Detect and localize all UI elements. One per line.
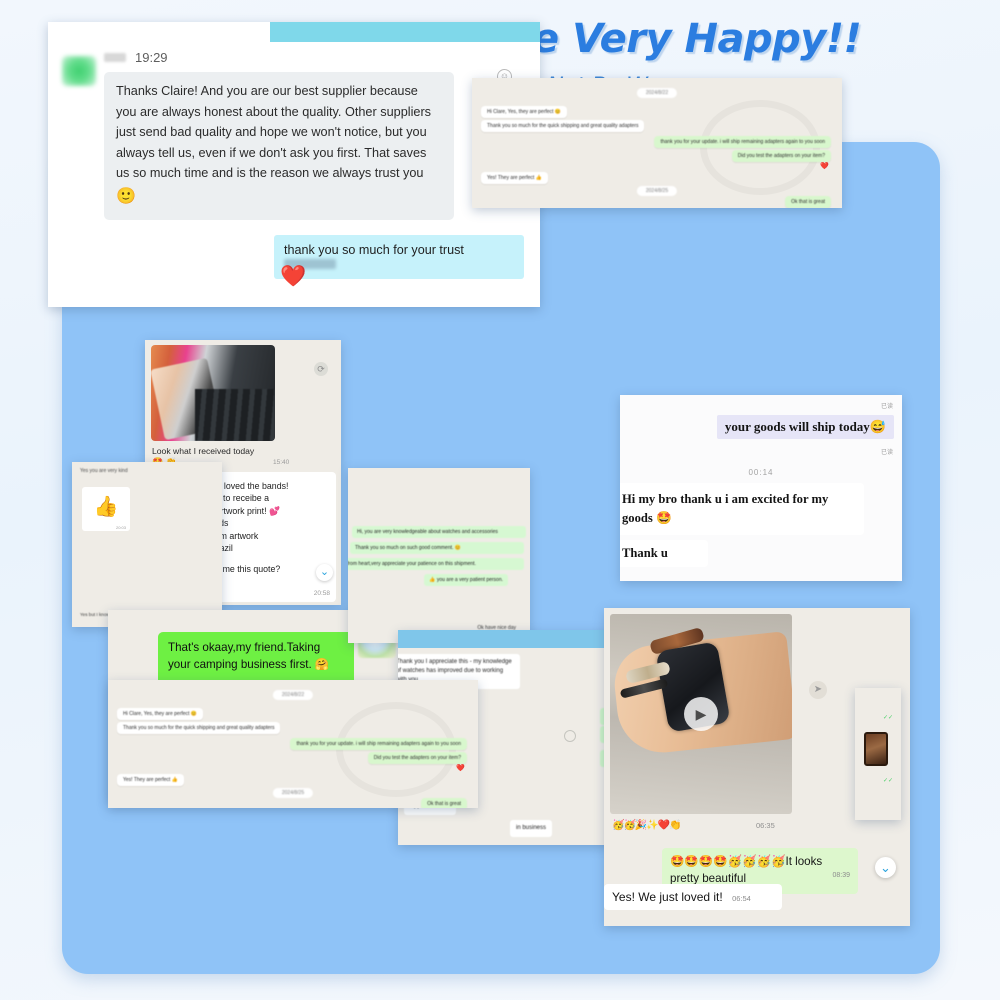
wrist-watch-video-thumbnail[interactable]: ▶ <box>610 614 792 814</box>
sender-name-redacted <box>104 53 126 62</box>
beautiful-message-text: 🤩🤩🤩🤩🥳🥳🥳🥳It looks pretty beautiful <box>670 855 822 885</box>
screenshot-comment-chat[interactable]: Hi, you are very knowledgeable about wat… <box>348 468 530 643</box>
date-divider-2: 2024/8/25 <box>273 788 313 798</box>
message-in-2: Thank you so much for the quick shipping… <box>481 120 644 132</box>
read-tick-bottom: ✓✓ <box>883 777 893 784</box>
watches-message-4: in business <box>510 820 552 837</box>
screenshot-adapters-chat-bottom[interactable]: 2024/8/22 Hi Clare, Yes, they are perfec… <box>108 680 478 808</box>
avatar <box>62 56 96 86</box>
incoming-message-bubble: Thanks Claire! And you are our best supp… <box>104 72 454 220</box>
message-out-3: Ok that is great <box>785 196 831 208</box>
read-receipt-2: 已读 <box>881 447 893 456</box>
heart-reaction-icon: ❤️ <box>820 162 829 170</box>
loved-timestamp: 06:54 <box>732 894 751 903</box>
read-receipt-1: 已读 <box>881 401 893 410</box>
window-top-bar <box>270 22 540 42</box>
message-text: Thanks Claire! And you are our best supp… <box>116 84 431 180</box>
photo-timestamp: 15:40 <box>273 459 289 466</box>
thumbs-up-icon: 👍 <box>94 496 119 518</box>
screenshot-shipping-chat[interactable]: 已读 your goods will ship today😅 已读 00:14 … <box>620 395 902 581</box>
beautiful-timestamp: 08:39 <box>832 871 850 881</box>
message-in-2: Thank you so much for the quick shipping… <box>117 722 280 734</box>
message-in-1: Hi Clare, Yes, they are perfect 😊 <box>117 708 203 720</box>
product-thumbnail[interactable] <box>864 732 888 766</box>
kind-top-message: Yes you are very kind <box>72 462 222 474</box>
message-in-3: Yes! They are perfect 👍 <box>117 774 184 786</box>
read-tick-top: ✓✓ <box>883 714 893 721</box>
message-in-1: Hi Clare, Yes, they are perfect 😊 <box>481 106 567 118</box>
message-out-3: Ok that is great <box>421 798 467 808</box>
chevron-down-icon[interactable]: ⌄ <box>316 564 333 581</box>
message-in-3: Yes! They are perfect 👍 <box>481 172 548 184</box>
heart-reaction-icon: ❤️ <box>280 265 306 289</box>
message-row: 19:29 Thanks Claire! And you are our bes… <box>48 42 540 220</box>
date-divider-2: 2024/8/25 <box>637 186 677 196</box>
reaction-emojis: 🥳🥳🎉✨❤️👏 <box>612 820 681 831</box>
quote-timestamp: 20:58 <box>314 589 330 598</box>
forward-icon[interactable]: ➤ <box>809 681 827 699</box>
heart-reaction-icon: ❤️ <box>456 764 465 772</box>
sender-row: 19:29 <box>104 50 540 65</box>
thumbs-up-sticker: 👍 20:03 <box>82 487 130 531</box>
screenshot-adapters-chat-top[interactable]: 2024/8/22 Hi Clare, Yes, they are perfec… <box>472 78 842 208</box>
screenshot-sliver-chat[interactable]: ✓✓ ✓✓ <box>855 688 901 820</box>
cyan-message-text: thank you so much for your trust <box>284 243 464 257</box>
comment-message-3: from heart,very appreciate your patience… <box>348 558 524 570</box>
time-divider: 00:14 <box>748 468 773 477</box>
refresh-icon[interactable]: ⟳ <box>314 362 328 376</box>
message-out-2: Did you test the adapters on your item? <box>732 150 831 162</box>
photo-caption: Look what I received today <box>145 441 341 456</box>
comment-message-2: Thank you so much on such good comment. … <box>350 542 524 554</box>
incoming-excited-bubble: Hi my bro thank u i am excited for my go… <box>620 483 864 535</box>
window-top-bar <box>398 630 630 648</box>
video-timestamp: 06:35 <box>756 821 775 830</box>
message-out-1: thank you for your update. i will ship r… <box>654 136 831 148</box>
outgoing-ship-bubble: your goods will ship today😅 <box>717 415 894 439</box>
play-icon[interactable]: ▶ <box>684 697 718 731</box>
chevron-down-icon[interactable]: ⌄ <box>875 857 896 878</box>
record-icon[interactable] <box>564 730 576 742</box>
incoming-thanku-bubble: Thank u <box>620 540 708 567</box>
incoming-loved-bubble: Yes! We just loved it! 06:54 <box>604 884 782 910</box>
comment-message-4: 👍 you are a very patient person. <box>424 574 508 586</box>
camping-message-1: That's okaay,my friend.Taking your campi… <box>168 640 345 674</box>
message-time: 19:29 <box>135 50 168 65</box>
screenshot-main-testimonial[interactable]: 19:29 Thanks Claire! And you are our bes… <box>48 22 540 307</box>
cyan-trust-bubble: thank you so much for your trust <box>274 235 524 279</box>
message-out-2: Did you test the adapters on your item? <box>368 752 467 764</box>
date-divider: 2024/8/22 <box>273 690 313 700</box>
message-emoji: 🙂 <box>116 184 440 210</box>
received-bands-photo[interactable] <box>151 345 275 441</box>
sticker-timestamp: 20:03 <box>116 525 126 530</box>
comment-message-1: Hi, you are very knowledgeable about wat… <box>352 526 526 538</box>
screenshot-kind-chat[interactable]: Yes you are very kind 👍 20:03 Yes but I … <box>72 462 222 627</box>
message-out-1: thank you for your update. i will ship r… <box>290 738 467 750</box>
loved-message-text: Yes! We just loved it! <box>612 890 723 904</box>
date-divider: 2024/8/22 <box>637 88 677 98</box>
